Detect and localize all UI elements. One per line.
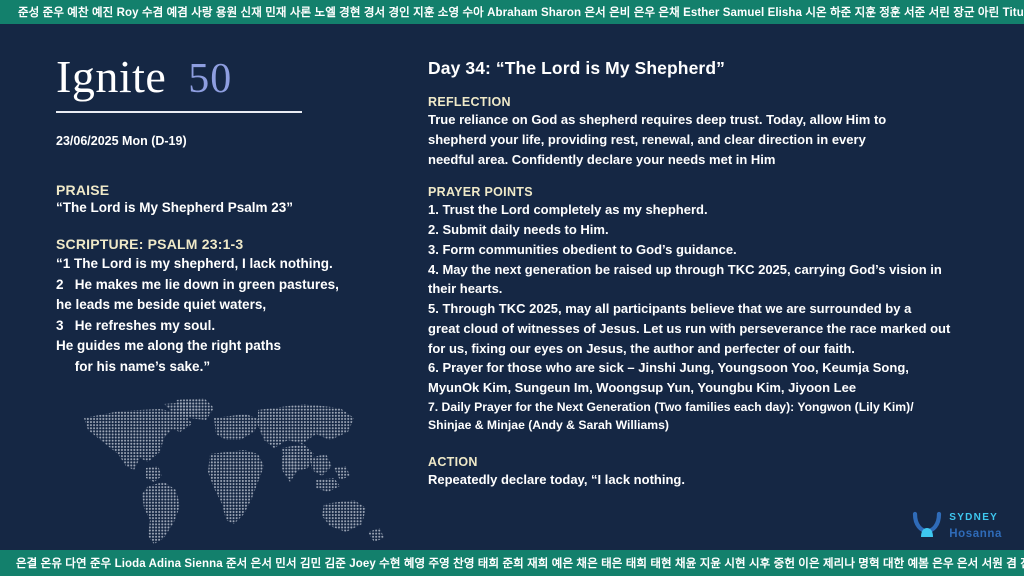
reflection-section: REFLECTION True reliance on God as sheph… xyxy=(428,95,1018,169)
prayer-point-line: their hearts. xyxy=(428,279,1018,299)
brand-title-row: Ignite 50 xyxy=(56,50,356,103)
prayer-points-heading: PRAYER POINTS xyxy=(428,185,1018,199)
logo-wordmark: SYDNEY Hosanna xyxy=(949,508,1002,542)
brand-number: 50 xyxy=(188,55,232,103)
prayer-point-line: 6. Prayer for those who are sick – Jinsh… xyxy=(428,358,1018,378)
action-section: ACTION Repeatedly declare today, “I lack… xyxy=(428,455,1018,490)
prayer-point-line: 3. Form communities obedient to God’s gu… xyxy=(428,240,1018,260)
action-text: Repeatedly declare today, “I lack nothin… xyxy=(428,470,1018,490)
prayer-point-line: 4. May the next generation be raised up … xyxy=(428,260,1018,280)
logo-hosanna-text: Hosanna xyxy=(949,528,1002,540)
prayer-point-line: great cloud of witnesses of Jesus. Let u… xyxy=(428,319,1018,339)
scripture-heading: SCRIPTURE: PSALM 23:1-3 xyxy=(56,236,406,252)
action-heading: ACTION xyxy=(428,455,1018,469)
scripture-line: he leads me beside quiet waters, xyxy=(56,295,406,316)
top-name-banner-text: 준성 준우 예찬 예진 Roy 수겸 예겸 사랑 용원 신재 민재 사론 노엘 … xyxy=(18,4,1024,20)
brand-block: Ignite 50 xyxy=(56,50,356,113)
scripture-body: “1 The Lord is my shepherd, I lack nothi… xyxy=(56,254,406,377)
left-panel: Ignite 50 23/06/2025 Mon (D-19) PRAISE “… xyxy=(0,24,410,550)
sydney-hosanna-logo: SYDNEY Hosanna xyxy=(912,508,1002,542)
main-content-panel: Day 34: “The Lord is My Shepherd” REFLEC… xyxy=(428,24,1018,550)
prayer-point-line: 5. Through TKC 2025, may all participant… xyxy=(428,299,1018,319)
scripture-line: He guides me along the right paths xyxy=(56,336,406,357)
scripture-section: SCRIPTURE: PSALM 23:1-3 “1 The Lord is m… xyxy=(56,236,406,377)
reflection-line: True reliance on God as shepherd require… xyxy=(428,110,1018,130)
page-title: Day 34: “The Lord is My Shepherd” xyxy=(428,58,1018,79)
prayer-point-line: 2. Submit daily needs to Him. xyxy=(428,220,1018,240)
prayer-points-section: PRAYER POINTS 1. Trust the Lord complete… xyxy=(428,185,1018,435)
prayer-point-line: for us, fixing our eyes on Jesus, the au… xyxy=(428,339,1018,359)
prayer-point-line: Shinjae & Minjae (Andy & Sarah Williams) xyxy=(428,416,1018,435)
scripture-line: 3 He refreshes my soul. xyxy=(56,316,406,337)
praise-section: PRAISE “The Lord is My Shepherd Psalm 23… xyxy=(56,182,396,219)
prayer-point-line: 1. Trust the Lord completely as my sheph… xyxy=(428,200,1018,220)
hosanna-mark-icon xyxy=(912,511,942,539)
praise-heading: PRAISE xyxy=(56,182,396,198)
scripture-line: for his name’s sake.” xyxy=(56,357,406,378)
logo-sydney-text: SYDNEY xyxy=(949,512,998,523)
dotted-world-map-graphic xyxy=(68,396,398,556)
bottom-name-banner-text: 은결 온유 다연 준우 Lioda Adina Sienna 준서 은서 민서 … xyxy=(16,555,1024,571)
reflection-line: shepherd your life, providing rest, rene… xyxy=(428,130,1018,150)
reflection-heading: REFLECTION xyxy=(428,95,1018,109)
bottom-name-banner: 은결 온유 다연 준우 Lioda Adina Sienna 준서 은서 민서 … xyxy=(0,550,1024,576)
scripture-line: 2 He makes me lie down in green pastures… xyxy=(56,275,406,296)
prayer-point-line: MyunOk Kim, Sungeun Im, Woongsup Yun, Yo… xyxy=(428,378,1018,398)
brand-name: Ignite xyxy=(56,50,166,103)
reflection-line: needful area. Confidently declare your n… xyxy=(428,150,1018,170)
scripture-line: “1 The Lord is my shepherd, I lack nothi… xyxy=(56,254,406,275)
brand-divider xyxy=(56,111,302,113)
prayer-point-line: 7. Daily Prayer for the Next Generation … xyxy=(428,398,1018,417)
top-name-banner: 준성 준우 예찬 예진 Roy 수겸 예겸 사랑 용원 신재 민재 사론 노엘 … xyxy=(0,0,1024,24)
praise-song-title: “The Lord is My Shepherd Psalm 23” xyxy=(56,198,396,219)
date-label: 23/06/2025 Mon (D-19) xyxy=(56,134,187,148)
